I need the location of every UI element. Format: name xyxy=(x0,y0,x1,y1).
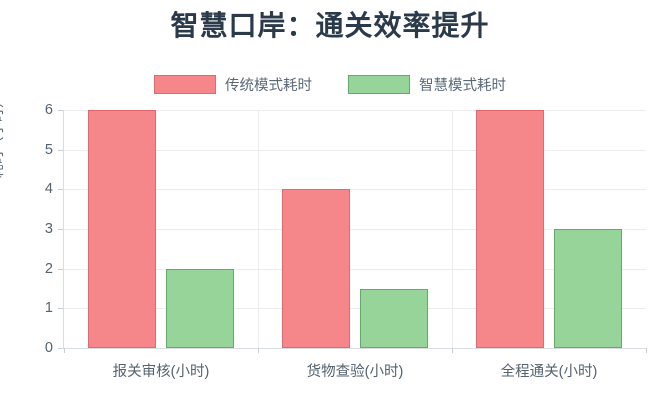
vertical-gridline xyxy=(452,110,453,348)
x-axis-tick-mark xyxy=(258,348,259,353)
y-axis-tick-label: 6 xyxy=(27,103,53,117)
y-axis-title: 耗时（小时） xyxy=(0,94,6,178)
x-axis-tick-label: 报关审核(小时) xyxy=(113,360,210,381)
x-axis-tick-mark xyxy=(646,348,647,353)
x-axis-tick-label: 全程通关(小时) xyxy=(501,360,598,381)
x-axis-tick-label: 货物查验(小时) xyxy=(307,360,404,381)
bar-smart-1[interactable] xyxy=(360,289,428,349)
plot-area: 报关审核(小时)货物查验(小时)全程通关(小时) xyxy=(63,110,646,349)
y-axis-tick-label: 2 xyxy=(27,262,53,276)
y-axis-tick-label: 4 xyxy=(27,182,53,196)
y-axis-tick-label: 3 xyxy=(27,222,53,236)
bar-traditional-2[interactable] xyxy=(476,110,544,348)
y-axis-tick-label: 1 xyxy=(27,301,53,315)
bar-smart-2[interactable] xyxy=(554,229,622,348)
chart-container: 智慧口岸：通关效率提升 传统模式耗时 智慧模式耗时 耗时（小时） 0123456… xyxy=(0,0,660,403)
y-axis-tick-label: 0 xyxy=(27,341,53,355)
x-axis-tick-mark xyxy=(64,348,65,353)
bar-traditional-1[interactable] xyxy=(282,189,350,348)
vertical-gridline xyxy=(258,110,259,348)
y-axis-tick-label: 5 xyxy=(27,143,53,157)
plot-wrapper: 耗时（小时） 0123456 报关审核(小时)货物查验(小时)全程通关(小时) xyxy=(0,0,660,403)
bar-traditional-0[interactable] xyxy=(88,110,156,348)
bar-smart-0[interactable] xyxy=(166,269,234,348)
x-axis-tick-mark xyxy=(452,348,453,353)
